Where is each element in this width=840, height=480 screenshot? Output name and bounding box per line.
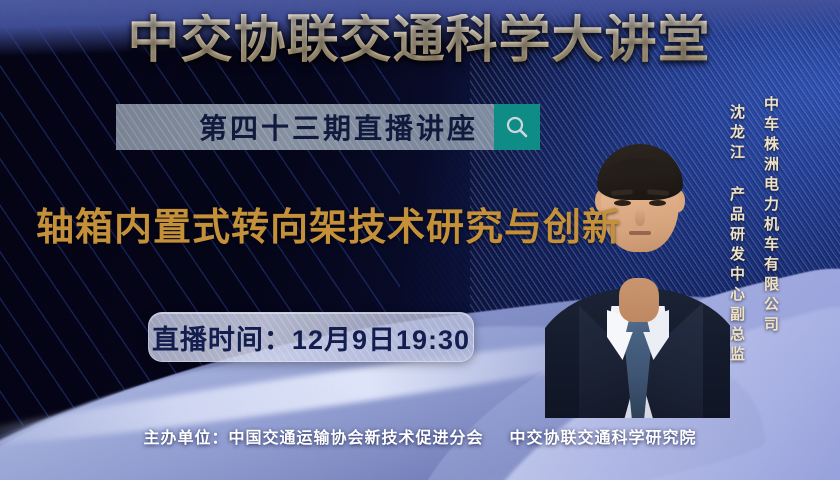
- search-icon: [504, 114, 530, 140]
- episode-label: 第四十三期直播讲座: [199, 107, 478, 147]
- search-icon-button[interactable]: [494, 104, 540, 150]
- live-time-badge: 直播时间：12月9日19:30: [148, 312, 474, 362]
- live-time-text: 直播时间：12月9日19:30: [152, 318, 470, 357]
- episode-bar: 第四十三期直播讲座: [116, 104, 540, 150]
- portrait-neck: [619, 278, 659, 322]
- speaker-company: 中车株洲电力机车有限公司: [760, 96, 781, 336]
- topic-title: 轴箱内置式转向架技术研究与创新: [36, 196, 621, 251]
- portrait-eye-right: [649, 200, 666, 206]
- webinar-poster: 中交协联交通科学大讲堂 第四十三期直播讲座 轴箱内置式转向架技术研究与创新 直播…: [0, 0, 840, 480]
- footer-org-1: 中国交通运输协会新技术促进分会: [228, 430, 483, 447]
- footer-organizers: 主办单位：中国交通运输协会新技术促进分会中交协联交通科学研究院: [0, 424, 840, 448]
- portrait-nose: [635, 208, 645, 226]
- episode-bar-body: 第四十三期直播讲座: [116, 104, 494, 150]
- footer-org-2: 中交协联交通科学研究院: [510, 430, 697, 447]
- portrait-mouth: [629, 231, 651, 235]
- speaker-name-title: 沈龙江 产品研发中心副总监: [726, 104, 747, 366]
- speaker-portrait: [545, 118, 730, 418]
- poster-headline: 中交协联交通科学大讲堂: [0, 14, 840, 66]
- footer-prefix: 主办单位：: [143, 430, 228, 447]
